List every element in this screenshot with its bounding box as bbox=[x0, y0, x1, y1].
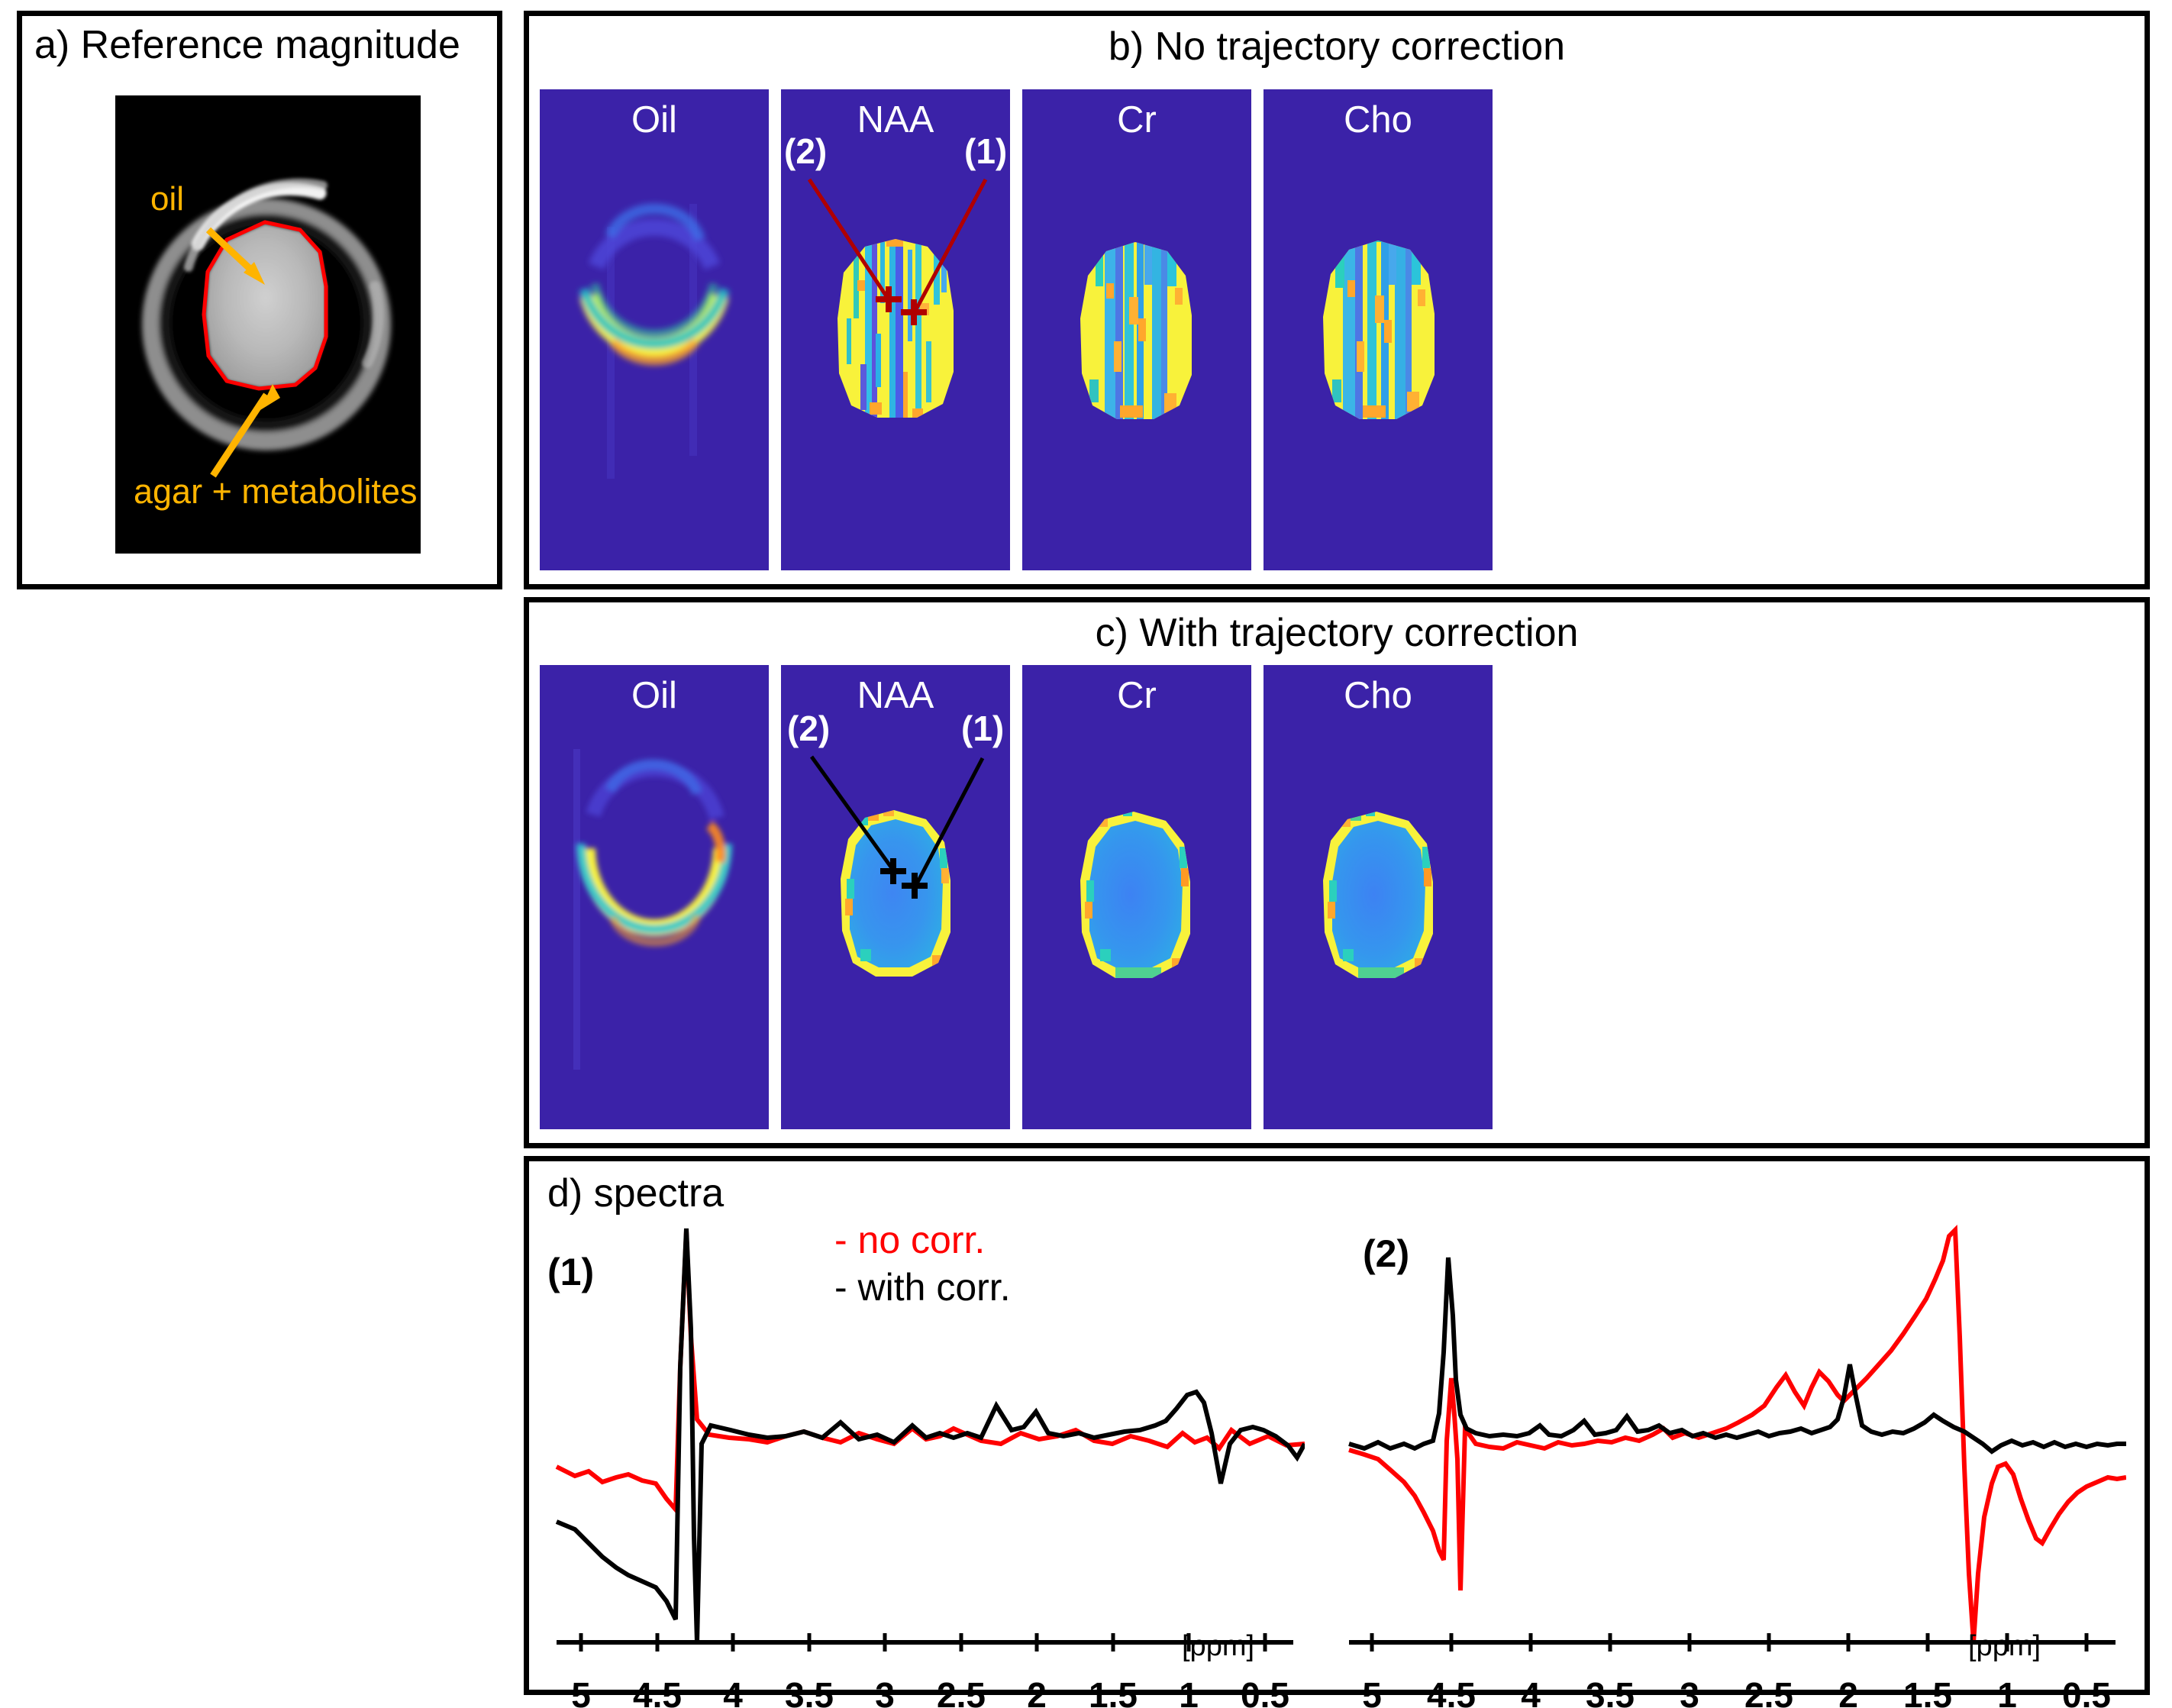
cr-map-corr-svg bbox=[1022, 665, 1251, 1129]
tick-2-7: 1.5 bbox=[1903, 1674, 1952, 1708]
figure-root: a) Reference magnitude bbox=[0, 0, 2172, 1708]
tick-2-9: 0.5 bbox=[2062, 1674, 2111, 1708]
callout-2-label-nocorr: (2) bbox=[784, 134, 827, 169]
tick-2-0: 5 bbox=[1362, 1674, 1382, 1708]
map-tile-naa-nocorr: NAA (2) (1) bbox=[781, 89, 1010, 570]
tick-2-4: 3 bbox=[1680, 1674, 1699, 1708]
oil-map-corr-svg bbox=[540, 665, 769, 1129]
panel-d-title: d) spectra bbox=[547, 1174, 724, 1213]
tick-2-1: 4.5 bbox=[1427, 1674, 1476, 1708]
map-tile-cr-nocorr: Cr bbox=[1022, 89, 1251, 570]
map-tile-cho-corr: Cho bbox=[1264, 665, 1493, 1129]
voxel-marker-1-nocorr bbox=[901, 299, 927, 325]
map-tile-oil-nocorr: Oil bbox=[540, 89, 769, 570]
voxel-marker-2-nocorr bbox=[876, 286, 902, 312]
spectrum-2-ticks bbox=[1340, 1215, 2126, 1673]
annotation-oil-label: oil bbox=[150, 182, 184, 216]
spectrum-1-tick-labels: 5 4.5 4 3.5 3 2.5 2 1.5 1 0.5 bbox=[541, 1674, 1305, 1708]
tick-1-6: 2 bbox=[1027, 1674, 1047, 1708]
map-tile-oil-corr: Oil bbox=[540, 665, 769, 1129]
cho-map-corr-svg bbox=[1264, 665, 1493, 1129]
tick-1-0: 5 bbox=[571, 1674, 591, 1708]
tick-1-4: 3 bbox=[875, 1674, 895, 1708]
map-tile-cho-nocorr: Cho bbox=[1264, 89, 1493, 570]
voxel-marker-1-corr bbox=[902, 873, 928, 899]
tick-2-6: 2 bbox=[1838, 1674, 1858, 1708]
tick-1-9: 0.5 bbox=[1241, 1674, 1289, 1708]
tick-2-8: 1 bbox=[1997, 1674, 2017, 1708]
panel-b-no-trajectory-correction: b) No trajectory correction O bbox=[524, 11, 2150, 589]
tick-1-2: 4 bbox=[723, 1674, 743, 1708]
tick-1-1: 4.5 bbox=[633, 1674, 682, 1708]
panel-d-spectra: d) spectra - no corr. - with corr. (1) (… bbox=[524, 1156, 2150, 1695]
map-tile-cr-corr: Cr bbox=[1022, 665, 1251, 1129]
panel-c-with-trajectory-correction: c) With trajectory correction Oil bbox=[524, 597, 2150, 1148]
tick-2-3: 3.5 bbox=[1586, 1674, 1635, 1708]
spectrum-plot-1 bbox=[541, 1215, 1305, 1673]
tick-2-5: 2.5 bbox=[1744, 1674, 1793, 1708]
cr-map-nocorr-svg bbox=[1022, 89, 1251, 570]
panel-c-title: c) With trajectory correction bbox=[1096, 613, 1579, 653]
annotation-agar-label: agar + metabolites bbox=[134, 474, 417, 509]
tick-1-8: 1 bbox=[1179, 1674, 1199, 1708]
spectrum-plot-2 bbox=[1340, 1215, 2126, 1673]
map-tile-naa-corr: NAA (2) (1) bbox=[781, 665, 1010, 1129]
tick-2-2: 4 bbox=[1521, 1674, 1541, 1708]
tick-1-3: 3.5 bbox=[785, 1674, 834, 1708]
oil-map-nocorr-svg bbox=[540, 89, 769, 570]
callout-1-label-nocorr: (1) bbox=[964, 134, 1007, 169]
spectrum-1-ticks bbox=[541, 1215, 1305, 1673]
tick-1-5: 2.5 bbox=[937, 1674, 986, 1708]
panel-a-reference-magnitude: a) Reference magnitude bbox=[17, 11, 502, 589]
cho-map-nocorr-svg bbox=[1264, 89, 1493, 570]
callout-1-label-corr: (1) bbox=[961, 711, 1004, 746]
panel-a-title: a) Reference magnitude bbox=[34, 25, 460, 65]
callout-2-label-corr: (2) bbox=[787, 711, 830, 746]
panel-b-title: b) No trajectory correction bbox=[1109, 27, 1565, 66]
spectrum-2-tick-labels: 5 4.5 4 3.5 3 2.5 2 1.5 1 0.5 bbox=[1340, 1674, 2126, 1708]
spectrum-1-unit: [ppm] bbox=[1182, 1632, 1254, 1661]
tick-1-7: 1.5 bbox=[1089, 1674, 1138, 1708]
spectrum-2-unit: [ppm] bbox=[1968, 1632, 2041, 1661]
